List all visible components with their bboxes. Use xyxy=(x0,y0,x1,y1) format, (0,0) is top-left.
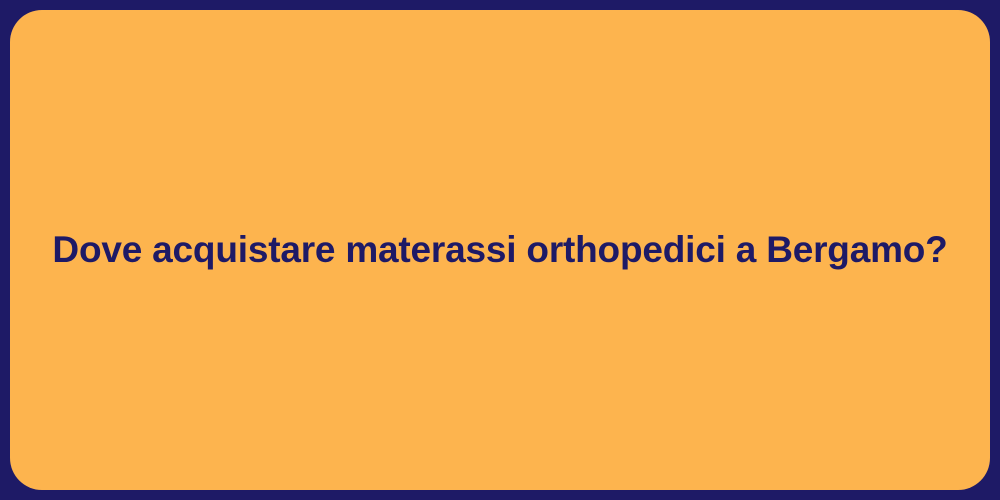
question-heading: Dove acquistare materassi orthopedici a … xyxy=(52,227,947,273)
question-card: Dove acquistare materassi orthopedici a … xyxy=(0,0,1000,500)
card-panel: Dove acquistare materassi orthopedici a … xyxy=(10,10,990,490)
